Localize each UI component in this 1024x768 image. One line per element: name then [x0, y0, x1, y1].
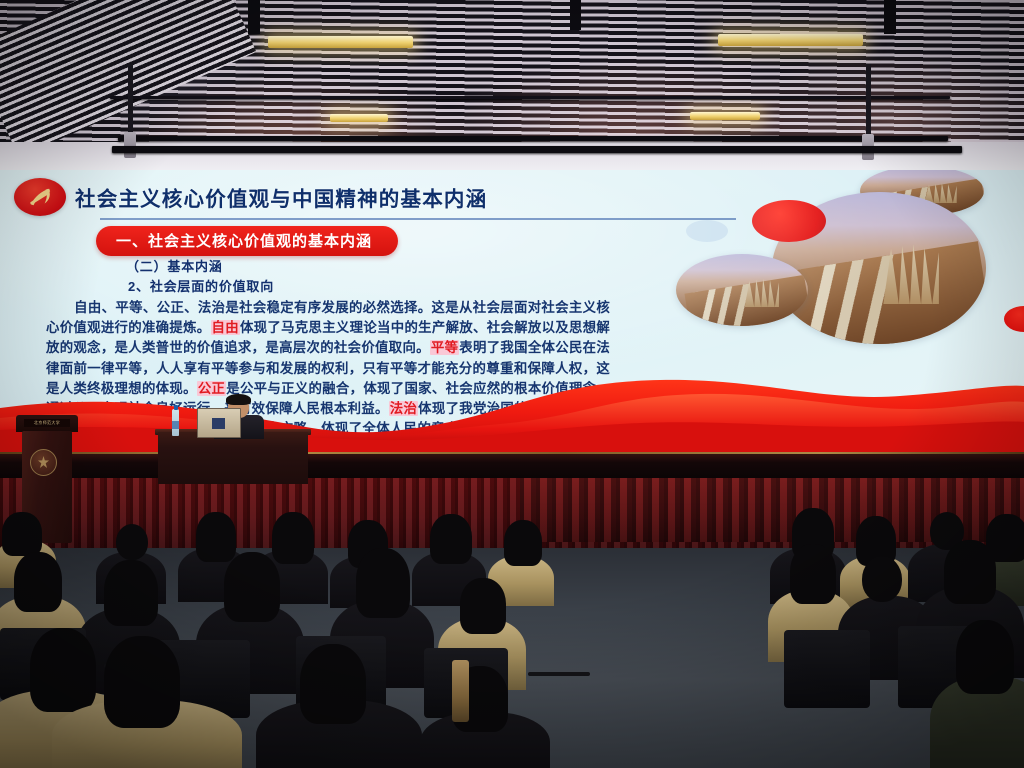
stage-spotlight-icon: [890, 112, 914, 144]
stage-spotlight-icon: [412, 152, 432, 178]
stage-spotlight-icon: [578, 150, 598, 176]
fluorescent-tube-icon: [330, 114, 388, 122]
laptop-icon: [197, 408, 241, 438]
stage-spotlight-icon: [740, 152, 760, 178]
stage-spotlight-icon: [200, 110, 224, 142]
stage-spotlight-icon: [594, 110, 618, 142]
lighting-truss: [110, 96, 950, 99]
red-accent-circle: [752, 200, 826, 242]
sub-heading-2: 2、社会层面的价值取向: [128, 276, 274, 295]
fluorescent-tube-icon: [268, 36, 413, 48]
ceiling-drop-rod: [884, 0, 896, 34]
lighting-truss: [118, 136, 948, 141]
stage-spotlight-icon: [104, 112, 128, 144]
blue-accent-circle: [686, 220, 728, 242]
stage-spotlight-icon: [148, 150, 168, 176]
highlighted-keyword: 自由: [211, 320, 240, 335]
sub-heading: （二）基本内涵: [126, 256, 223, 275]
title-underline: [100, 218, 736, 220]
stage-spotlight-icon: [498, 110, 522, 142]
stage-spotlight-icon: [400, 110, 424, 142]
fluorescent-tube-icon: [718, 34, 863, 46]
front-spotlight-row: [0, 146, 1024, 200]
ceiling-drop-rod: [128, 64, 133, 136]
stage-spotlight-icon: [298, 110, 322, 142]
stage-spotlight-icon: [848, 152, 868, 178]
red-silk-wave: [0, 374, 1024, 452]
stage-spotlight-icon: [250, 150, 270, 176]
stage-spotlight-icon: [196, 152, 216, 178]
highlighted-keyword: 平等: [430, 340, 459, 355]
screen-lower-frame: [0, 452, 1024, 478]
stage-spotlight-icon: [794, 150, 814, 176]
section-pill: 一、社会主义核心价值观的基本内涵: [96, 226, 398, 256]
ceiling-drop-rod: [570, 0, 581, 30]
water-bottle-icon: [172, 409, 179, 436]
stage-spotlight-icon: [692, 110, 716, 142]
stage-spotlight-icon: [902, 150, 922, 176]
great-wall-photo-left: [676, 254, 808, 326]
stage-spotlight-icon: [632, 152, 652, 178]
red-accent-circle: [1004, 306, 1024, 332]
ceiling-drop-rod: [248, 0, 260, 34]
university-seal-icon: [30, 449, 57, 476]
ceiling-drop-rod: [866, 64, 871, 138]
lecture-hall-photo: 社会主义核心价值观与中国精神的基本内涵 一、社会主义核心价值观的基本内涵 （二）…: [0, 0, 1024, 768]
stage-gold-edge: [0, 452, 1024, 454]
stage-spotlight-icon: [352, 150, 372, 176]
projection-screen: 社会主义核心价值观与中国精神的基本内涵 一、社会主义核心价值观的基本内涵 （二）…: [0, 170, 1024, 452]
stage-spotlight-icon: [686, 150, 706, 176]
presenter-table: [158, 432, 308, 484]
stage-spotlight-icon: [520, 152, 540, 178]
stage-spotlight-icon: [978, 116, 1002, 148]
thermos-bottle-icon: [452, 660, 469, 722]
stage-spotlight-icon: [790, 110, 814, 142]
podium-plate-text: 北京师范大学: [34, 420, 60, 426]
stage-spotlight-icon: [956, 152, 976, 178]
stage-spotlight-icon: [304, 152, 324, 178]
stage-spotlight-icon: [468, 150, 488, 176]
podium-name-plate: 北京师范大学: [24, 419, 70, 427]
